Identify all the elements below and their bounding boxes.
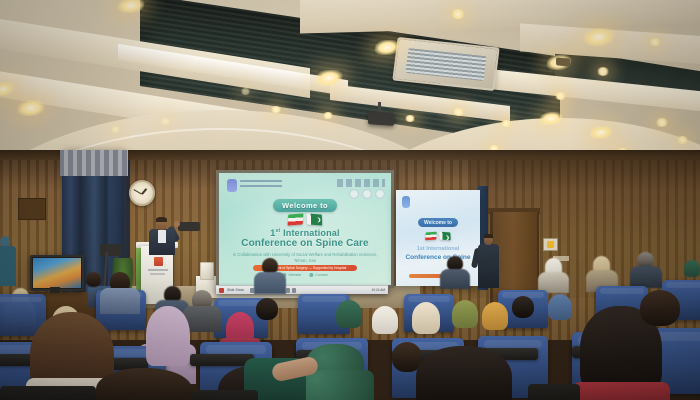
slide-logo-icon (227, 179, 237, 192)
slide-sponsor-badges (345, 189, 385, 200)
ceiling-light-icon (450, 9, 466, 19)
ceiling-light-icon (582, 28, 616, 46)
audience-area (0, 250, 700, 400)
audience-body (440, 269, 470, 289)
audience-head-scarf (336, 300, 362, 328)
speaker-hair (156, 217, 167, 222)
iran-flag-icon (425, 232, 437, 241)
audience-head-scarf (684, 260, 700, 277)
clock-minute-hand (134, 189, 142, 195)
audience-head-foreground (96, 368, 192, 400)
pakistan-flag-icon (307, 213, 322, 225)
ceiling-light-icon (554, 92, 567, 100)
banner-welcome-badge: Welcome to (418, 218, 458, 227)
ceiling-light-icon (588, 126, 613, 139)
ceiling-light-icon (452, 108, 465, 116)
ceiling-speaker (556, 57, 570, 66)
ceiling-light-icon (314, 70, 344, 86)
wall-clock (129, 180, 155, 206)
curtain-valance (60, 150, 128, 176)
audience-head-scarf (146, 306, 190, 366)
ceiling-light-icon (16, 100, 46, 116)
ceiling-light-icon (270, 106, 282, 113)
banner-logo-icon (402, 196, 410, 208)
audience-body (254, 272, 286, 294)
clock-hour-hand (141, 188, 147, 194)
presenter-right-hair (484, 234, 493, 238)
banner-flags (426, 232, 451, 240)
speaker-shirt (158, 230, 166, 243)
audience-head (512, 296, 534, 318)
seat-back (0, 386, 96, 400)
slide-logo-text (240, 180, 282, 190)
ceiling-light-icon (676, 136, 689, 144)
wall-mounted-box (18, 198, 46, 220)
audience-head-scarf (548, 294, 572, 320)
ceiling-light-icon (240, 88, 251, 95)
audience-head-foreground (416, 346, 512, 400)
ceiling-light-icon (116, 0, 146, 13)
audience-body (572, 382, 670, 400)
pakistan-flag-icon (439, 232, 450, 241)
slide-welcome-badge: Welcome to (273, 199, 337, 212)
ceiling (0, 0, 700, 175)
audience-body (100, 288, 140, 314)
audience-head (256, 298, 278, 320)
ceiling-light-icon (373, 40, 401, 55)
ceiling-light-icon (655, 118, 669, 127)
ceiling-light-icon (500, 120, 512, 127)
audience-head-scarf (452, 300, 478, 328)
slide-sponsor-logos (337, 179, 385, 187)
audience-head-scarf (372, 306, 398, 334)
ceiling-light-icon (160, 118, 171, 125)
projector (368, 111, 394, 126)
ceiling-light-icon (110, 126, 121, 133)
ceiling-light-icon (596, 67, 610, 76)
audience-head (640, 290, 680, 326)
audience-head-scarf (412, 302, 440, 334)
wall-mounted-box (178, 222, 200, 231)
seat-back (192, 390, 258, 400)
audience-head (86, 272, 101, 287)
ceiling-light-icon (404, 115, 416, 122)
ceiling-light-icon (648, 38, 662, 46)
audience-head-scarf (482, 302, 508, 330)
slide-title-word: International (283, 228, 340, 238)
seat-back (528, 384, 580, 400)
slide-title-line1: 1st International (270, 228, 339, 238)
slide-flags (288, 214, 322, 225)
conference-hall-photo: Welcome to 1st International Conference … (0, 0, 700, 400)
slide-title-ordinal-suffix: st (276, 228, 281, 234)
speaker-hand (174, 221, 180, 227)
audience-body (630, 266, 662, 288)
slide-title-line2: Conference on Spine Care (241, 238, 368, 249)
ceiling-light-icon (322, 112, 334, 119)
ceiling-band (300, 0, 700, 33)
ceiling-light-icon (538, 112, 563, 125)
iran-flag-icon (288, 213, 304, 225)
